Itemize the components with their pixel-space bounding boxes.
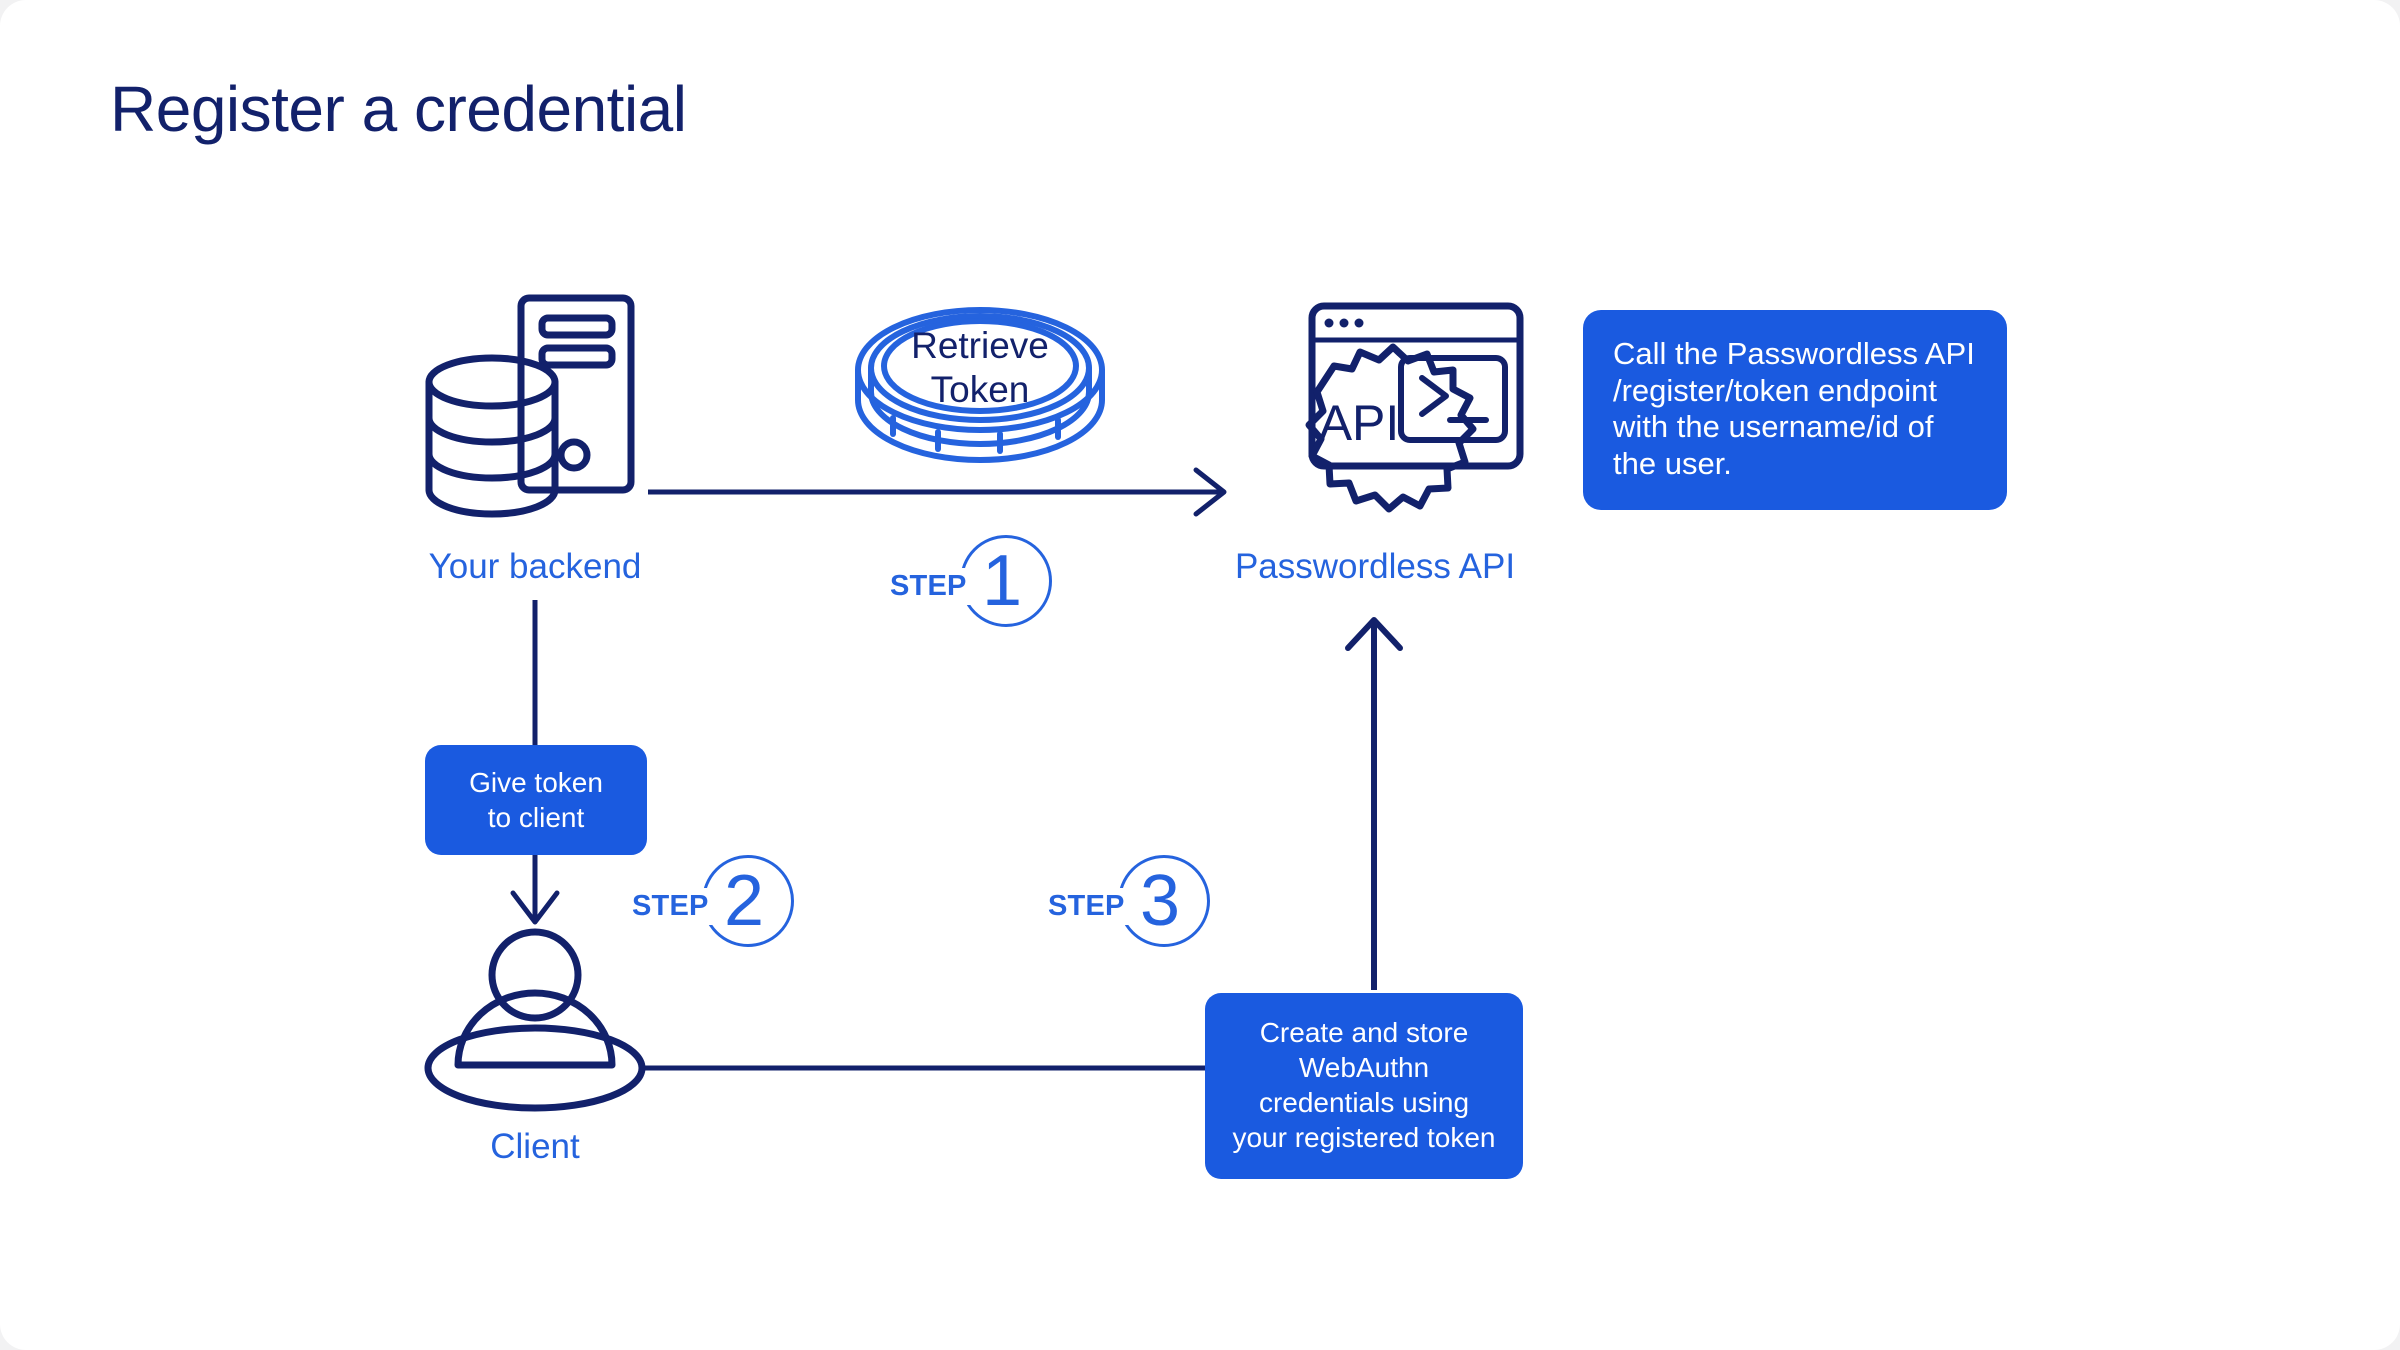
token-label-line1: Retrieve xyxy=(911,325,1049,366)
user-person-icon xyxy=(428,932,642,1108)
token-label-line2: Token xyxy=(931,369,1030,410)
step-2-number: 2 xyxy=(724,861,764,941)
callout-create-store: Create and store WebAuthn credentials us… xyxy=(1205,993,1523,1179)
callout-call-api-line-4: the user. xyxy=(1613,446,1977,483)
callout-give-token: Give token to client xyxy=(425,745,647,855)
arrow-backend-to-api xyxy=(648,470,1224,514)
step-2-word: STEP xyxy=(632,888,713,925)
callout-call-api: Call the Passwordless API /register/toke… xyxy=(1583,310,2007,510)
node-label-client: Client xyxy=(275,1125,795,1169)
api-gear-text: API xyxy=(1319,395,1400,451)
callout-create-store-line-3: credentials using xyxy=(1221,1085,1507,1120)
step-1-number: 1 xyxy=(982,541,1022,621)
api-gear-browser-icon: API xyxy=(1309,306,1520,509)
callout-create-store-line-1: Create and store xyxy=(1221,1015,1507,1050)
node-label-backend: Your backend xyxy=(275,545,795,589)
step-3-word: STEP xyxy=(1048,888,1129,925)
callout-give-token-line-2: to client xyxy=(441,800,631,835)
step-1-word: STEP xyxy=(890,568,971,605)
callout-create-store-line-2: WebAuthn xyxy=(1221,1050,1507,1085)
step-3-number: 3 xyxy=(1140,861,1180,941)
arrow-callout-to-api xyxy=(1348,620,1400,990)
callout-call-api-line-3: with the username/id of xyxy=(1613,409,1977,446)
step-badge-2: STEP 2 xyxy=(632,855,842,965)
database-server-icon xyxy=(429,298,631,514)
node-label-api: Passwordless API xyxy=(1115,545,1635,589)
diagram-page: Register a credential xyxy=(0,0,2400,1350)
callout-create-store-line-4: your registered token xyxy=(1221,1120,1507,1155)
callout-call-api-line-2: /register/token endpoint xyxy=(1613,373,1977,410)
callout-give-token-line-1: Give token xyxy=(441,765,631,800)
step-badge-3: STEP 3 xyxy=(1048,855,1258,965)
callout-call-api-line-1: Call the Passwordless API xyxy=(1613,336,1977,373)
step-badge-1: STEP 1 xyxy=(890,535,1100,645)
